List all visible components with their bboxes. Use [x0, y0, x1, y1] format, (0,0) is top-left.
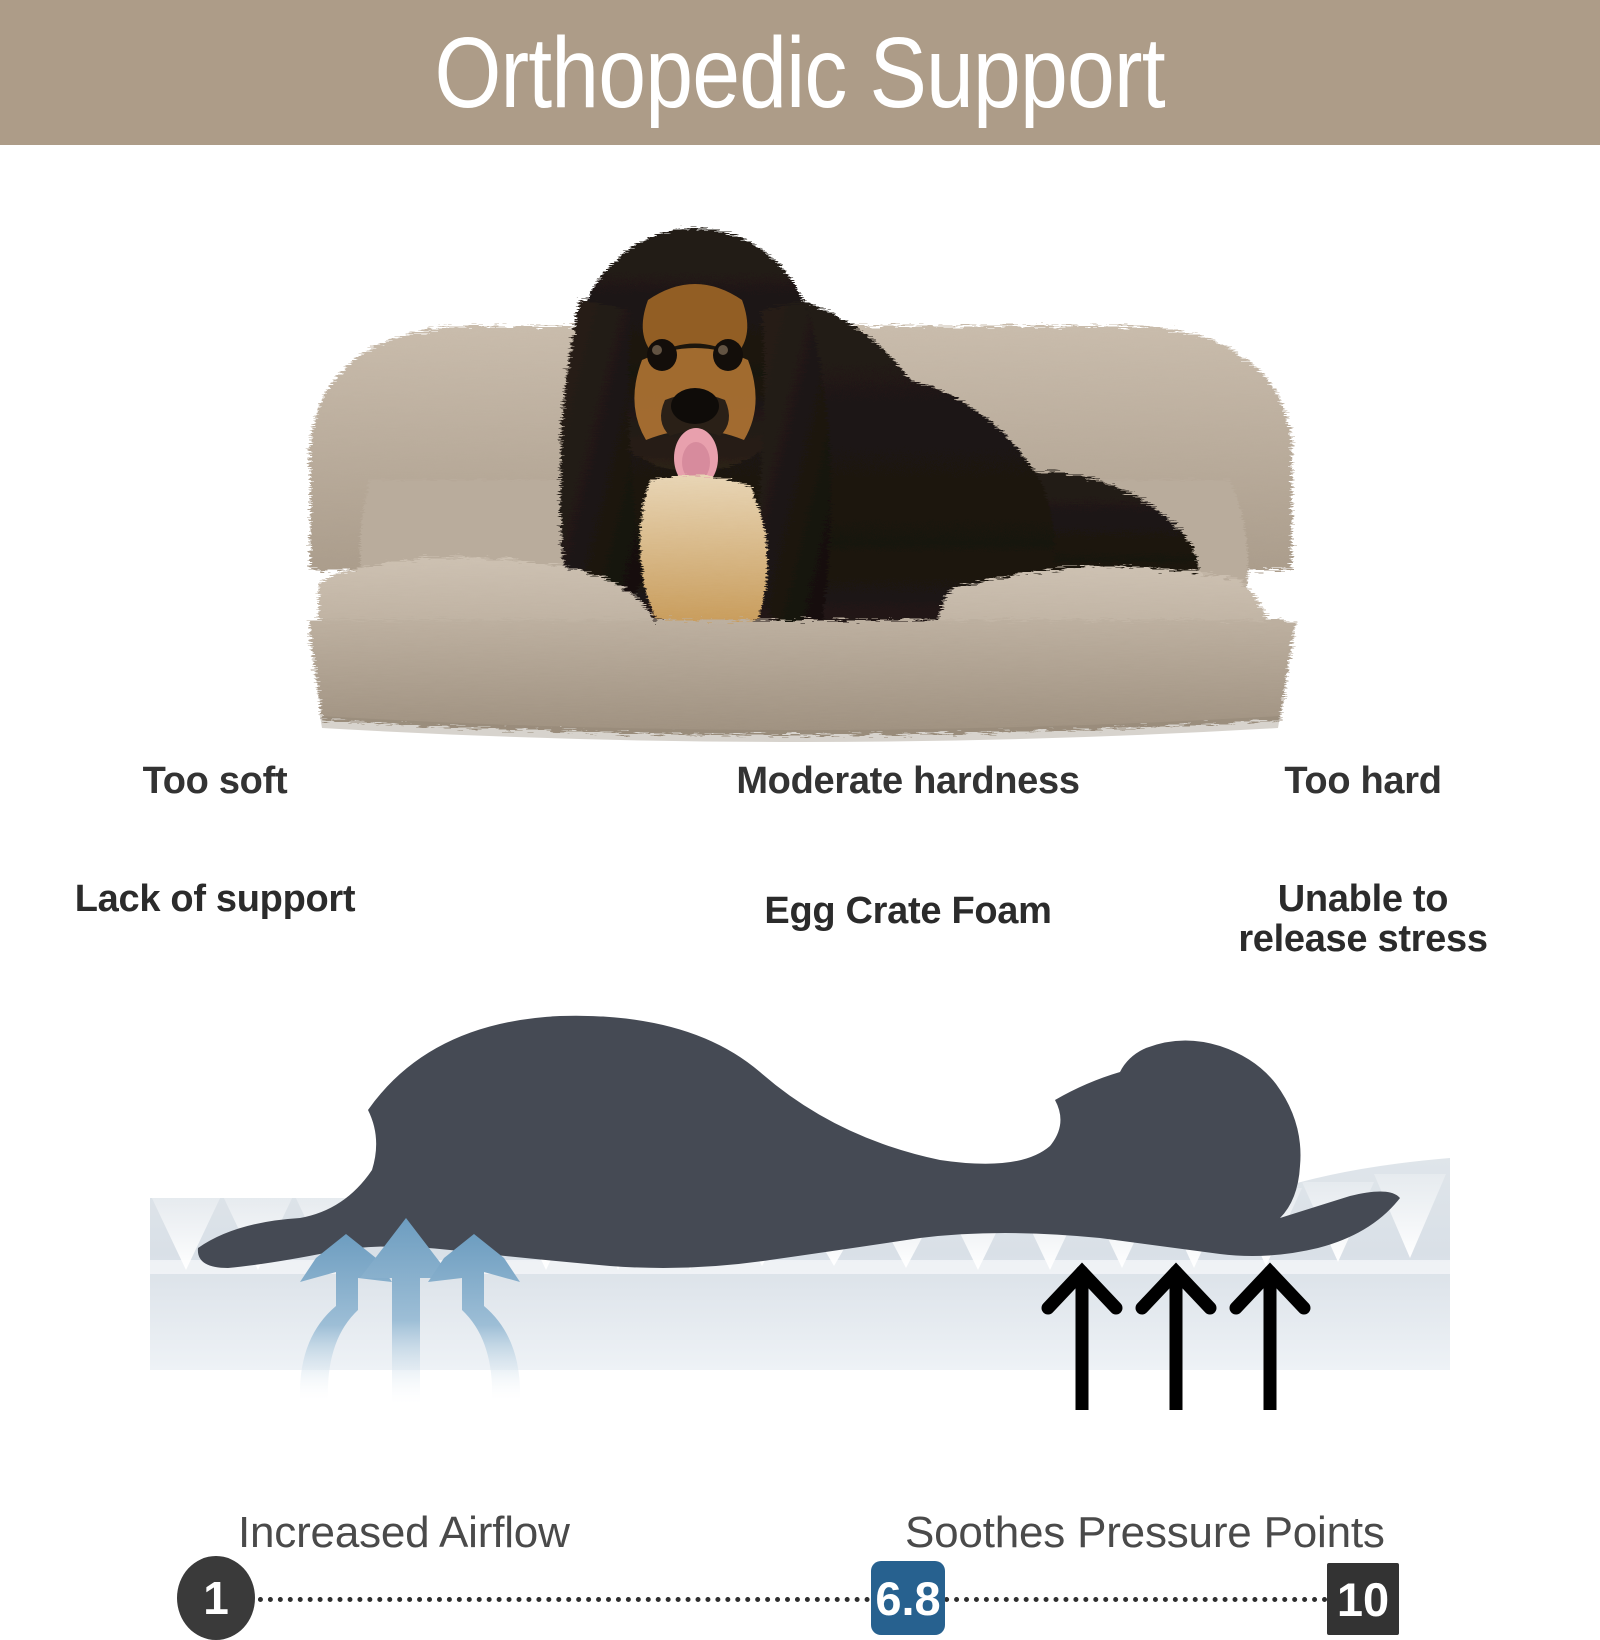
scale-left-top-label: Too soft — [65, 760, 365, 803]
pressure-arrows — [1048, 1272, 1304, 1410]
bed-front — [308, 620, 1296, 735]
scale-middle-bottom-label: Egg Crate Foam — [658, 892, 1158, 932]
dog-silhouette — [198, 1016, 1400, 1268]
airflow-arrows — [300, 1218, 520, 1404]
scale-badge-6-8: 6.8 — [871, 1561, 945, 1635]
page-title: Orthopedic Support — [435, 23, 1165, 123]
caption-increased-airflow: Increased Airflow — [238, 1508, 570, 1558]
scale-right-bottom: Unable to release stress — [1213, 880, 1513, 959]
scale-right-bottom-label-line2: release stress — [1213, 920, 1513, 960]
foam-diagram-illustration — [0, 960, 1600, 1410]
scale-middle-top: Moderate hardness — [658, 760, 1158, 803]
caption-soothes-pressure-points: Soothes Pressure Points — [905, 1508, 1385, 1558]
scale-badge-1: 1 — [177, 1556, 255, 1640]
foam-support-diagram — [0, 960, 1600, 1410]
scale-left-bottom: Lack of support — [65, 880, 365, 920]
scale-middle-top-label: Moderate hardness — [658, 760, 1158, 803]
product-photo-illustration — [250, 150, 1350, 750]
scale-middle-bottom: Egg Crate Foam — [658, 892, 1158, 932]
hardness-scale: Too soft 1 Lack of support Moderate hard… — [0, 755, 1600, 965]
scale-right-top: Too hard — [1213, 760, 1513, 803]
scale-badge-10: 10 — [1327, 1563, 1399, 1635]
scale-left-bottom-label: Lack of support — [65, 880, 365, 920]
scale-right-bottom-label-line1: Unable to — [1213, 880, 1513, 920]
scale-right-top-label: Too hard — [1213, 760, 1513, 803]
scale-left-top: Too soft — [65, 760, 365, 803]
header-band: Orthopedic Support — [0, 0, 1600, 145]
product-photo — [250, 150, 1350, 750]
